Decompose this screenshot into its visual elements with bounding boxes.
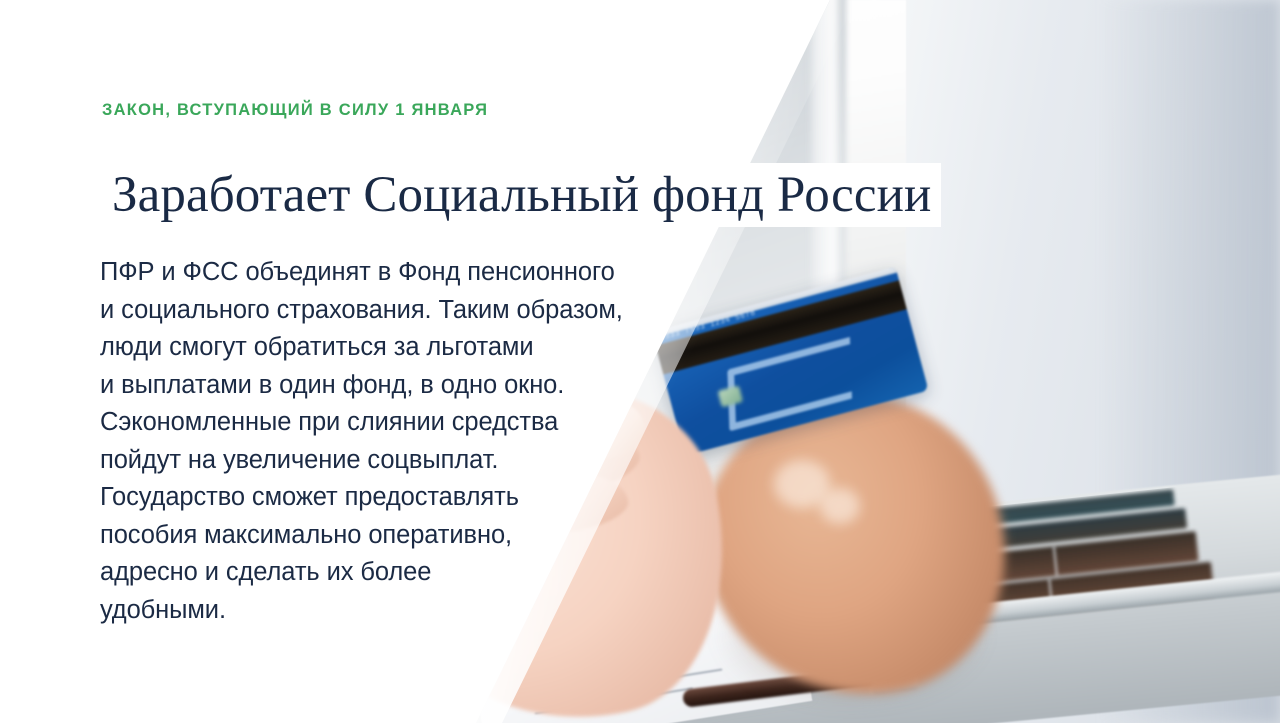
body-copy: ПФР и ФСС объединят в Фонд пенсионного и… xyxy=(100,254,700,629)
knuckle-highlight xyxy=(820,488,860,524)
headline-band: Заработает Социальный фонд России xyxy=(102,163,941,227)
slide-canvas: 5533 7553 1234 5678 ЗАКОН, ВСТУПАЮЩ xyxy=(0,0,1280,723)
body-paragraph: ПФР и ФСС объединят в Фонд пенсионного и… xyxy=(100,254,700,629)
page-title: Заработает Социальный фонд России xyxy=(112,170,931,221)
eyebrow-label: ЗАКОН, ВСТУПАЮЩИЙ В СИЛУ 1 ЯНВАРЯ xyxy=(102,101,488,120)
